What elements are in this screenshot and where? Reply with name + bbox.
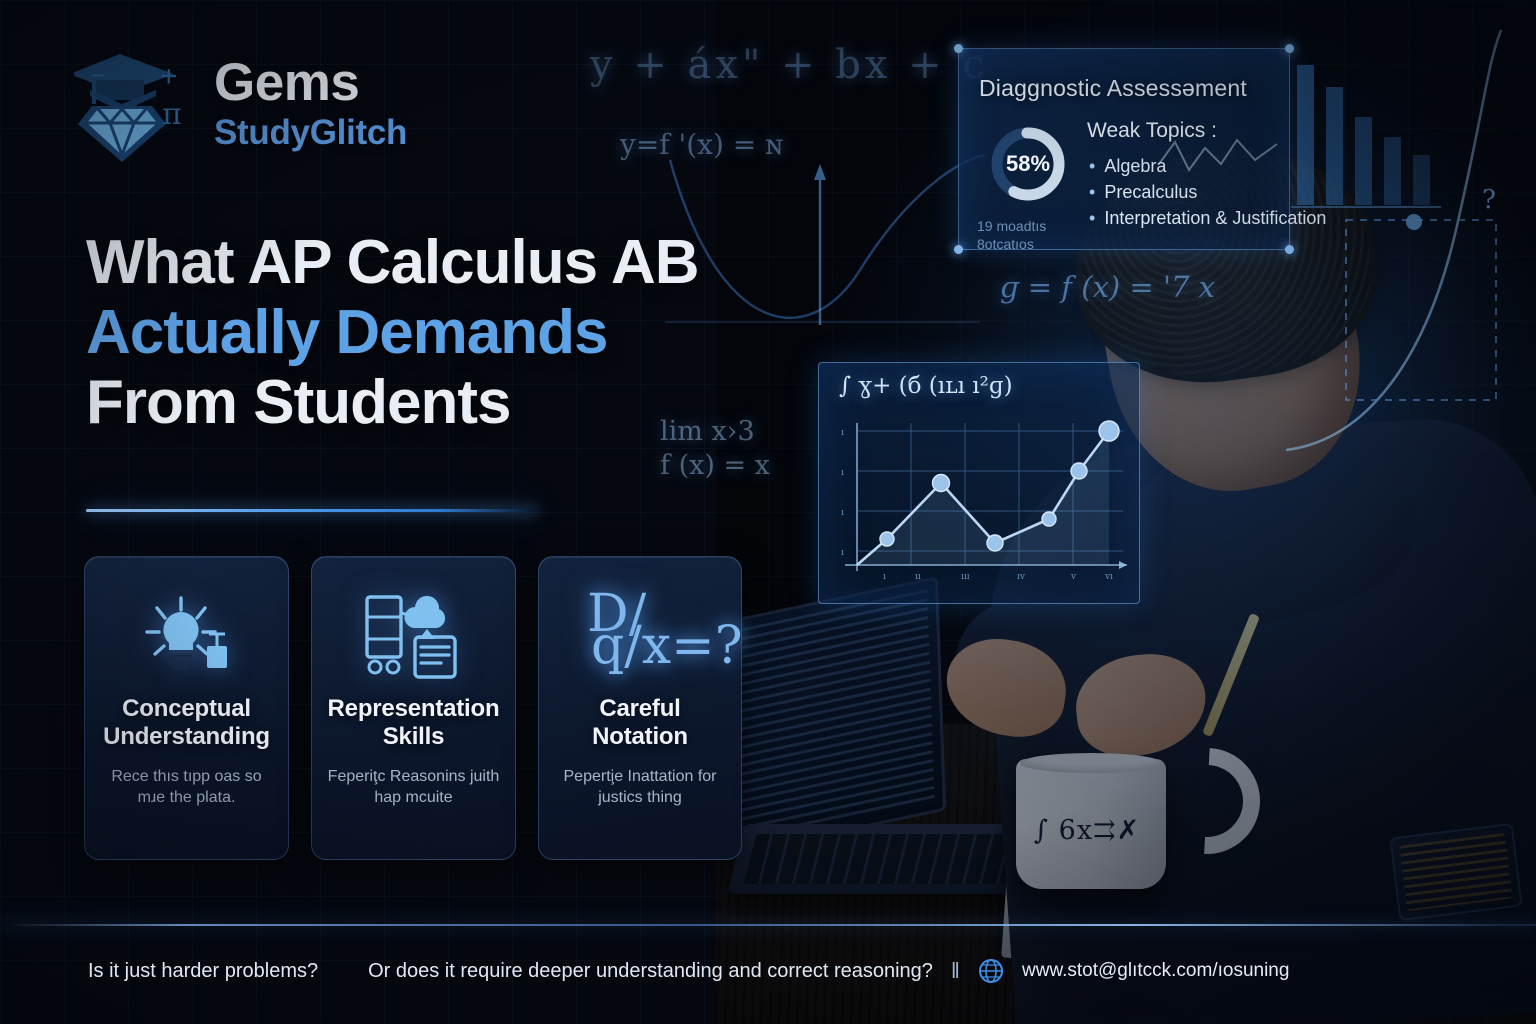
svg-text:π: π — [162, 97, 182, 132]
feature-card-careful-notation[interactable]: D/ q/x=? Careful Notation Peperti̧e Inat… — [538, 556, 742, 860]
poster-canvas: ∫ 6x⇉✗ y + áx" + bx + c y=f '(x) = ɴ lim… — [0, 0, 1536, 1024]
svg-text:ı: ı — [841, 468, 844, 478]
feature-card-title: Careful Notation — [553, 695, 727, 752]
headline-line-3: From Students — [86, 368, 786, 438]
svg-text:ı: ı — [841, 508, 844, 518]
brand-logo[interactable]: − + π Gems StudyGlitch — [74, 44, 407, 162]
function-expression: f (x) = x — [660, 450, 770, 481]
feature-card-conceptual-understanding[interactable]: Conceptual Understanding Rece thıs tıpp … — [84, 556, 289, 860]
caption-line-2: 8otcatıos — [977, 236, 1034, 252]
line-chart-panel[interactable]: ∫ ɣ+ (б (ıʟı ı²ɡ) — [818, 362, 1140, 604]
svg-text:v: v — [1070, 572, 1077, 582]
globe-icon — [978, 958, 1004, 984]
feature-card-description: Rece thıs tıpp oas so mɹe the plata. — [99, 766, 274, 809]
graduation-cap-diamond-icon: − + π — [74, 44, 196, 162]
chart-equation-label: ∫ ɣ+ (б (ıʟı ı²ɡ) — [839, 373, 1013, 399]
derivative-denominator: q/x=? — [591, 622, 743, 671]
footer-divider — [0, 924, 1536, 926]
panel-corner-dot — [1285, 245, 1294, 254]
svg-text:+: + — [160, 60, 178, 93]
feature-card-title: Representation Skills — [326, 695, 501, 752]
footer-url[interactable]: www.stot@glıtcck.com/ıosuning — [1022, 960, 1289, 982]
footer-bar: Is it just harder problems? Or does it r… — [88, 958, 1289, 984]
exponential-curve-icon: ? — [1286, 30, 1516, 460]
feature-card-title: Conceptual Understanding — [99, 695, 274, 752]
lightbulb-icon — [139, 577, 235, 695]
svg-text:−: − — [90, 60, 105, 90]
svg-text:ı: ı — [841, 548, 844, 558]
derivative-notation-icon: D/ q/x=? — [575, 577, 705, 695]
headline-divider — [86, 509, 538, 512]
diagnostic-caption: 19 moadtıs 8otcatıos — [977, 217, 1046, 253]
svg-text:vı: vı — [1104, 572, 1113, 582]
panel-corner-dot — [1285, 44, 1294, 53]
brand-name: Gems — [214, 56, 407, 109]
svg-text:?: ? — [1482, 185, 1496, 215]
diagnostic-title: Diaggnostic Assessəment — [979, 75, 1247, 102]
feature-card-representation-skills[interactable]: Representation Skills Feperiţc Reasonin… — [311, 556, 516, 860]
headline-line-2: Actually Demands — [86, 298, 786, 368]
footer-question-2: Or does it require deeper understanding … — [368, 960, 933, 983]
footer-separator: ‖ — [951, 958, 960, 984]
page-title: What AP Calculus AB Actually Demands Fro… — [86, 228, 786, 438]
panel-corner-dot — [954, 245, 963, 254]
diagnostic-assessment-panel[interactable]: Diaggnostic Assessəment 58% 19 moadtıs 8… — [958, 48, 1290, 250]
svg-text:ı: ı — [841, 428, 844, 438]
background-equation-5: ɡ = f (x) = '7 x — [1000, 270, 1215, 304]
svg-text:ııı: ııı — [961, 572, 970, 582]
progress-percent-label: 58% — [985, 121, 1071, 207]
svg-text:ıv: ıv — [1017, 572, 1026, 582]
footer-question-1: Is it just harder problems? — [88, 960, 318, 983]
svg-text:ıı: ıı — [915, 572, 921, 582]
sparkline-icon — [1159, 134, 1289, 184]
feature-card-description: Peperti̧e Inattation for justics thing — [553, 766, 727, 809]
headline-line-1: What AP Calculus AB — [86, 228, 786, 298]
background-equation-1: y + áx" + bx + c — [590, 42, 989, 88]
feature-card-description: Feperiţc Reasonins јuith hap mcuite — [326, 766, 501, 809]
chart-document-icon — [359, 577, 469, 695]
panel-corner-dot — [954, 44, 963, 53]
brand-subtitle: StudyGlitch — [214, 115, 407, 150]
performance-line-chart: ı ıı ııı ıv v vı ı ı ı ı — [827, 409, 1131, 595]
weak-topic-item: Interpretation & Justification — [1089, 205, 1326, 231]
feature-card-list: Conceptual Understanding Rece thıs tıpp … — [84, 556, 742, 860]
caption-line-1: 19 moadtıs — [977, 218, 1046, 234]
svg-text:ı: ı — [883, 572, 886, 582]
